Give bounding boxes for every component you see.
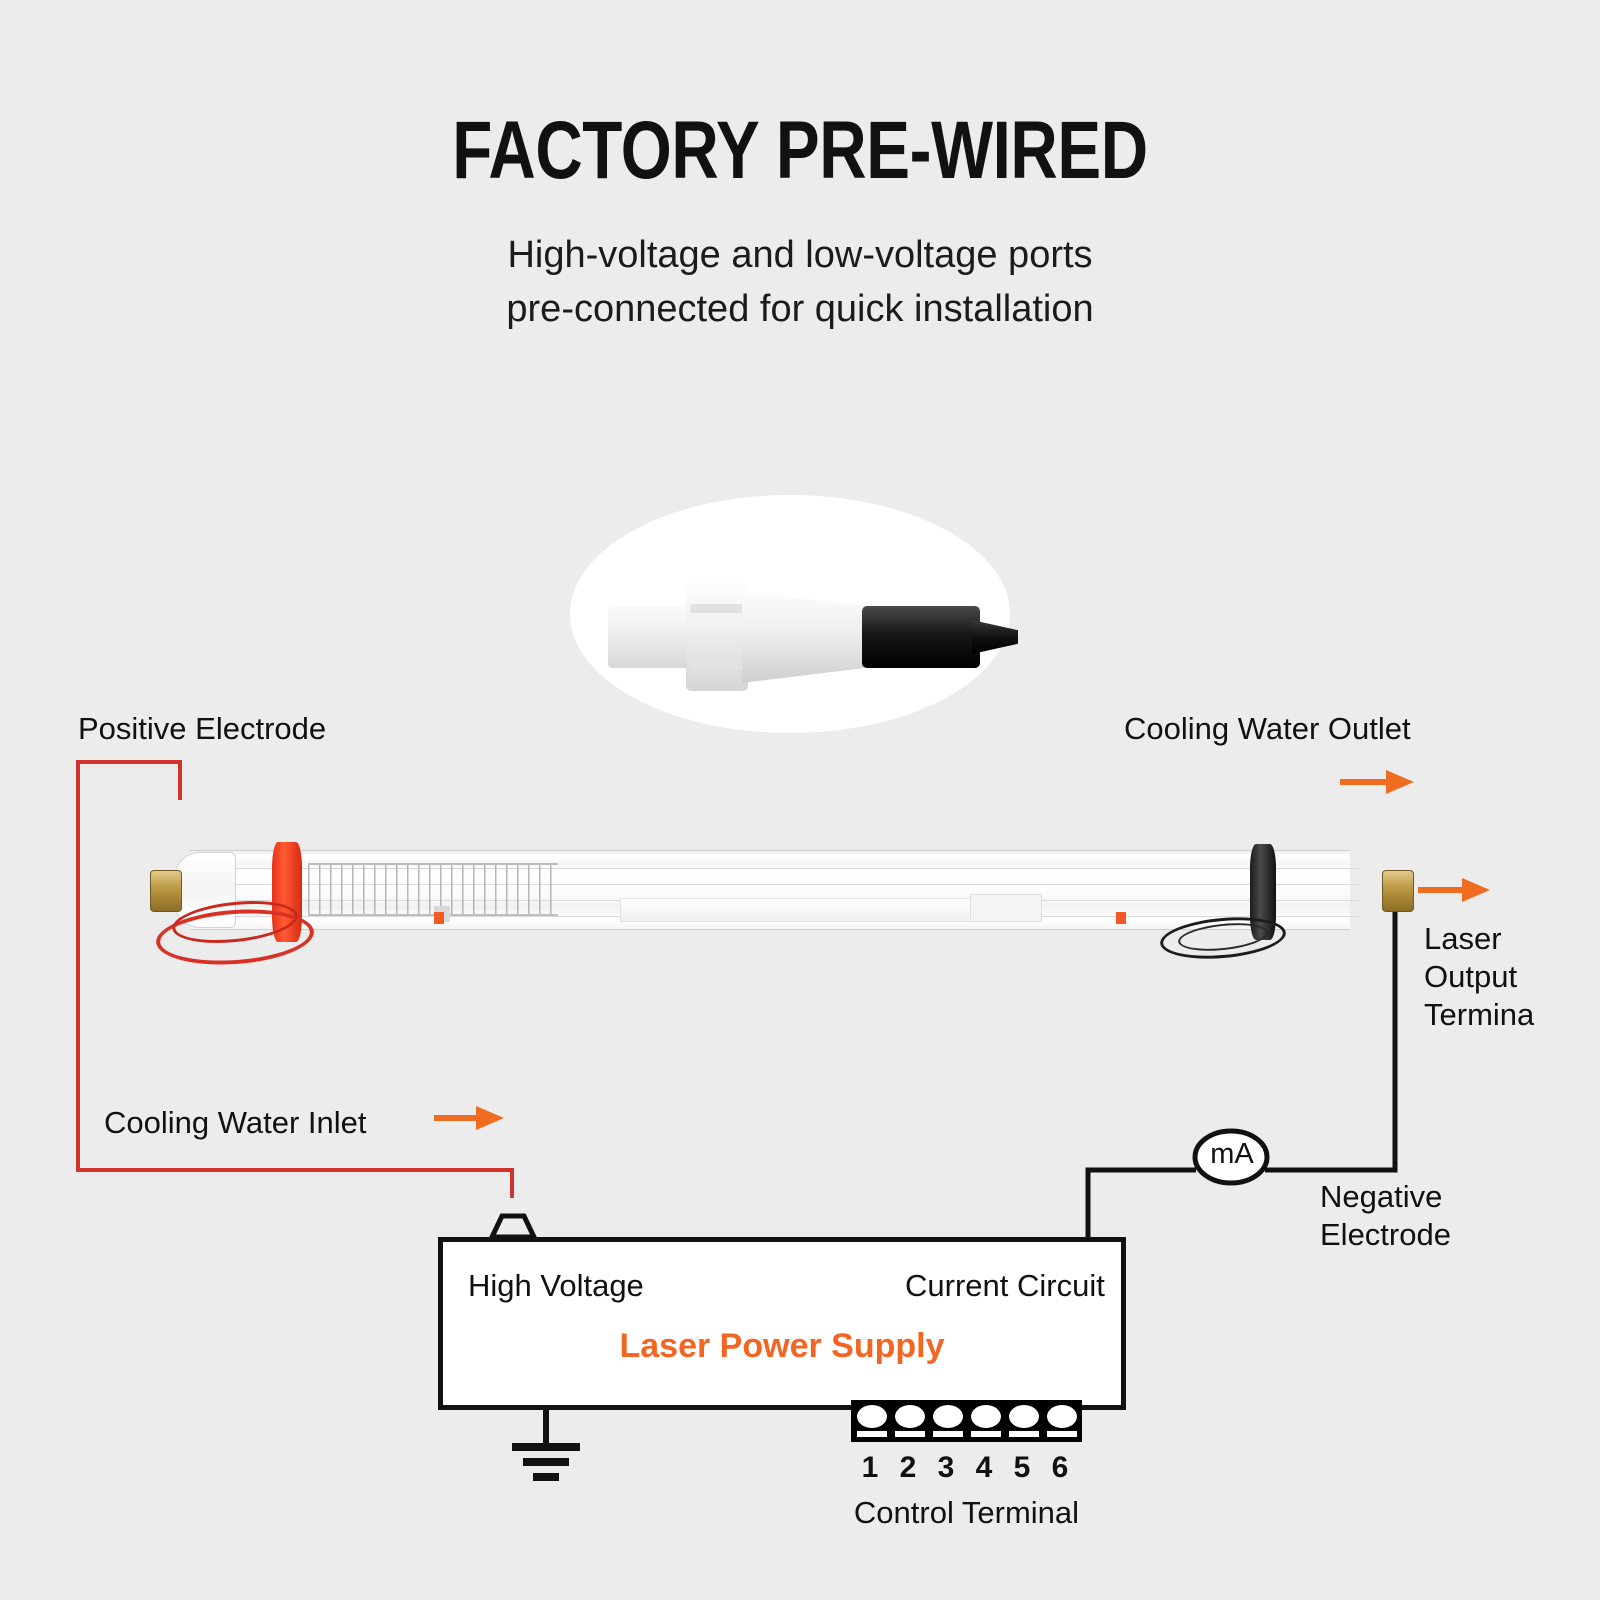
terminal-number-5: 5 <box>1005 1451 1039 1485</box>
arrow-laser-output <box>1418 878 1490 902</box>
terminal-number-2: 2 <box>891 1451 925 1485</box>
tube-rear-brass-cap <box>150 870 182 912</box>
terminal-screw-2[interactable] <box>895 1405 925 1428</box>
terminal-screw-4[interactable] <box>971 1405 1001 1428</box>
tube-fleck-orange-2 <box>1116 912 1126 924</box>
terminal-slot-4 <box>971 1431 1001 1437</box>
psu-current-circuit-label: Current Circuit <box>905 1268 1105 1304</box>
tube-fleck-orange-1 <box>434 912 444 924</box>
wire-high-voltage-red <box>78 762 512 1198</box>
ammeter-label: mA <box>1196 1138 1268 1171</box>
terminal-screw-5[interactable] <box>1009 1405 1039 1428</box>
arrow-cooling-water-inlet <box>434 1106 504 1130</box>
terminal-slot-6 <box>1047 1431 1077 1437</box>
co2-laser-tube <box>150 838 1412 958</box>
terminal-number-1: 1 <box>853 1451 887 1485</box>
coil-bottom-rail <box>308 914 558 916</box>
terminal-number-4: 4 <box>967 1451 1001 1485</box>
tube-internal-coil <box>308 864 558 914</box>
psu-title: Laser Power Supply <box>438 1327 1126 1366</box>
arrow-cooling-water-outlet <box>1340 770 1414 794</box>
high-voltage-terminal <box>492 1216 534 1237</box>
terminal-screw-3[interactable] <box>933 1405 963 1428</box>
coil-top-rail <box>308 863 558 865</box>
terminal-number-3: 3 <box>929 1451 963 1485</box>
tube-center-sleeve-2 <box>970 894 1042 922</box>
laser-output-brass-cap <box>1382 870 1414 912</box>
terminal-screw-1[interactable] <box>857 1405 887 1428</box>
control-terminal-caption: Control Terminal <box>851 1495 1082 1531</box>
control-terminal-block <box>851 1400 1082 1442</box>
terminal-slot-2 <box>895 1431 925 1437</box>
terminal-slot-5 <box>1009 1431 1039 1437</box>
terminal-screw-6[interactable] <box>1047 1405 1077 1428</box>
terminal-slot-1 <box>857 1431 887 1437</box>
wire-current-circuit <box>1088 1170 1196 1237</box>
psu-high-voltage-label: High Voltage <box>468 1268 644 1304</box>
laser-power-supply-box <box>438 1237 1126 1410</box>
terminal-number-6: 6 <box>1043 1451 1077 1485</box>
terminal-slot-3 <box>933 1431 963 1437</box>
poster-canvas: FACTORY PRE-WIRED High-voltage and low-v… <box>0 0 1600 1600</box>
tube-center-sleeve <box>620 898 1002 922</box>
